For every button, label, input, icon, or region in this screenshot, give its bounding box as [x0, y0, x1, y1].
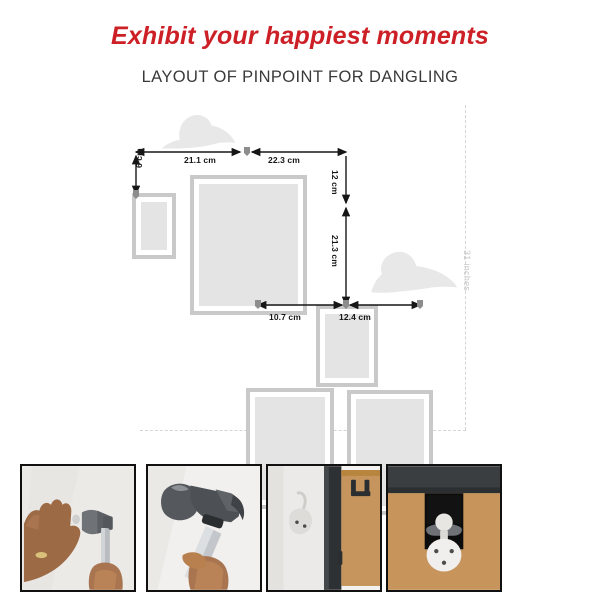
- page-title: Exhibit your happiest moments: [0, 22, 600, 51]
- frame-mat: [141, 202, 167, 250]
- page-header: Exhibit your happiest moments LAYOUT OF …: [0, 0, 600, 105]
- dim-label-21-1: 21.1 cm: [184, 155, 216, 165]
- bird-silhouette-icon: [368, 248, 458, 294]
- photo-hook-frame[interactable]: [266, 464, 382, 592]
- wall-height-label: 31 inches: [462, 250, 472, 291]
- photo-hammer-nail[interactable]: [146, 464, 262, 592]
- photo-mark-spot[interactable]: [20, 464, 136, 592]
- frame-mat: [325, 314, 369, 378]
- dim-label-10-7: 10.7 cm: [269, 312, 301, 322]
- dim-label-12: 12 cm: [330, 170, 340, 195]
- frame-small-left[interactable]: [132, 193, 176, 259]
- page-subtitle: LAYOUT OF PINPOINT FOR DANGLING: [0, 68, 600, 87]
- frame-big-center[interactable]: [190, 175, 307, 315]
- dim-label-21-3: 21.3 cm: [330, 235, 340, 267]
- dim-label-12-4: 12.4 cm: [339, 312, 371, 322]
- bird-silhouette-icon: [160, 110, 236, 150]
- layout-diagram: 31 inches 32 inches: [0, 100, 600, 455]
- instruction-photo-strip: [0, 458, 600, 600]
- dim-label-6: 6 cm: [134, 148, 144, 168]
- dim-label-22-3: 22.3 cm: [268, 155, 300, 165]
- frame-mat: [199, 184, 298, 306]
- photo-hang-frame[interactable]: [386, 464, 502, 592]
